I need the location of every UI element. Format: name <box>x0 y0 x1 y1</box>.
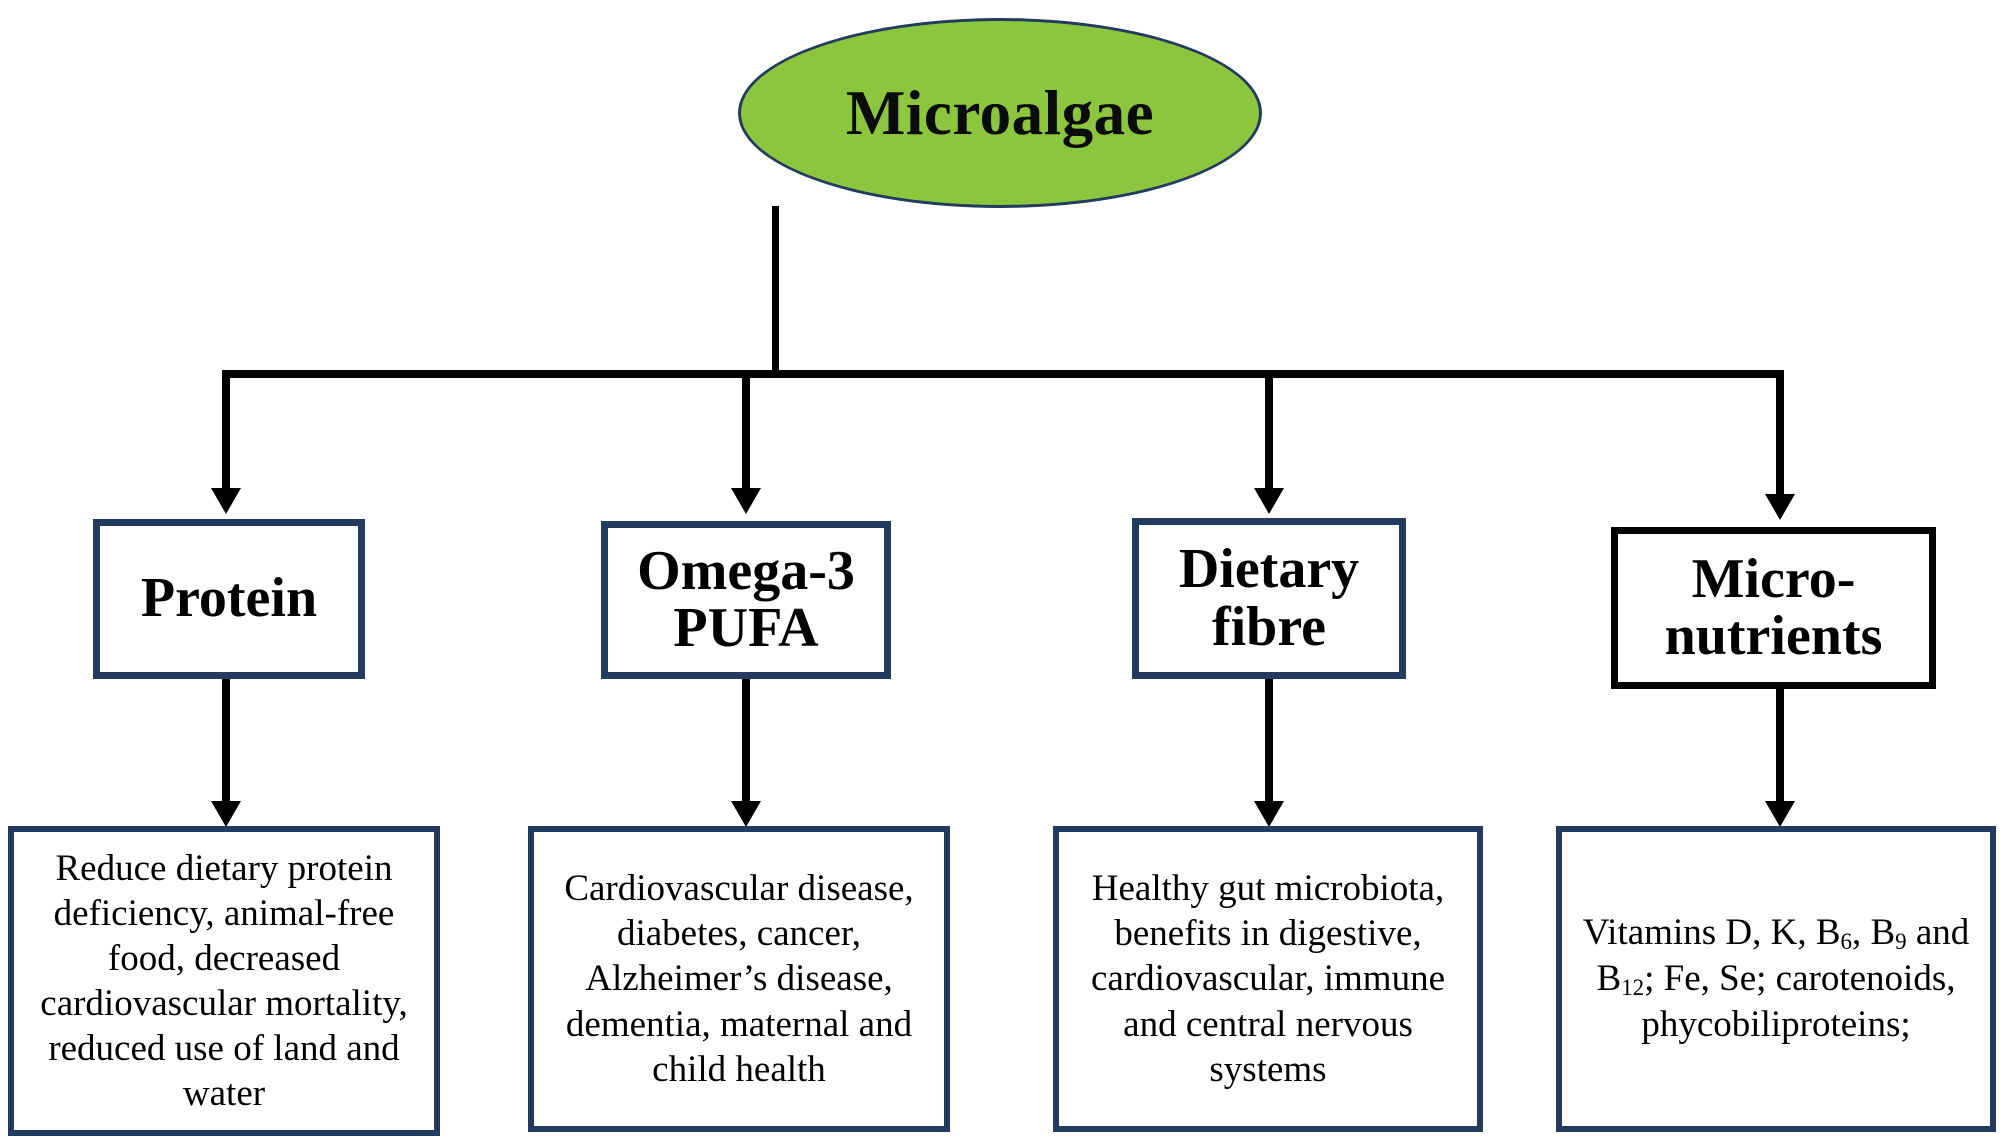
root-node-label: Microalgae <box>846 82 1154 145</box>
connector-leg-micronutrients <box>1776 370 1784 494</box>
flowchart-canvas: Microalgae Protein Omega-3 PUFA Dietary … <box>0 0 2000 1140</box>
connector-protein-to-description <box>222 679 230 801</box>
description-text-micronutrients: Vitamins D, K, B6, B9 and B12; Fe, Se; c… <box>1562 910 1990 1047</box>
connector-leg-dietary-fibre <box>1265 370 1273 488</box>
arrowhead-to-micronutrients <box>1765 494 1795 520</box>
connector-leg-protein <box>222 370 230 488</box>
arrowhead-to-protein <box>211 488 241 514</box>
connector-micronutrients-to-description <box>1776 689 1784 801</box>
connector-omega3-to-description <box>742 679 750 801</box>
arrowhead-to-micronutrients-description <box>1765 801 1795 827</box>
description-box-omega3-pufa[interactable]: Cardiovascular disease, diabetes, cancer… <box>528 826 950 1132</box>
node-protein-label: Protein <box>135 570 323 627</box>
arrowhead-to-dietary-fibre <box>1254 488 1284 514</box>
description-box-micronutrients[interactable]: Vitamins D, K, B6, B9 and B12; Fe, Se; c… <box>1556 826 1996 1132</box>
node-micronutrients[interactable]: Micro-nutrients <box>1611 527 1936 689</box>
connector-leg-omega3 <box>742 370 750 488</box>
connector-dietary-fibre-to-description <box>1265 679 1273 801</box>
arrowhead-to-protein-description <box>211 801 241 827</box>
arrowhead-to-omega3 <box>731 488 761 514</box>
root-node-microalgae[interactable]: Microalgae <box>738 18 1262 208</box>
node-protein[interactable]: Protein <box>93 519 365 679</box>
description-box-dietary-fibre[interactable]: Healthy gut microbiota, benefits in dige… <box>1053 826 1483 1132</box>
description-box-protein[interactable]: Reduce dietary protein deficiency, anima… <box>8 826 440 1136</box>
arrowhead-to-omega3-description <box>731 801 761 827</box>
description-text-protein: Reduce dietary protein deficiency, anima… <box>14 846 434 1117</box>
connector-trunk-vertical <box>772 206 779 376</box>
arrowhead-to-dietary-fibre-description <box>1254 801 1284 827</box>
description-text-omega3-pufa: Cardiovascular disease, diabetes, cancer… <box>534 866 944 1092</box>
node-omega3-pufa-label: Omega-3 PUFA <box>608 543 884 657</box>
node-omega3-pufa[interactable]: Omega-3 PUFA <box>601 521 891 679</box>
node-micronutrients-label: Micro-nutrients <box>1618 551 1929 665</box>
description-text-dietary-fibre: Healthy gut microbiota, benefits in dige… <box>1059 866 1477 1092</box>
node-dietary-fibre-label: Dietary fibre <box>1139 541 1399 655</box>
node-dietary-fibre[interactable]: Dietary fibre <box>1132 518 1406 679</box>
connector-distribution-bar <box>222 370 1784 378</box>
